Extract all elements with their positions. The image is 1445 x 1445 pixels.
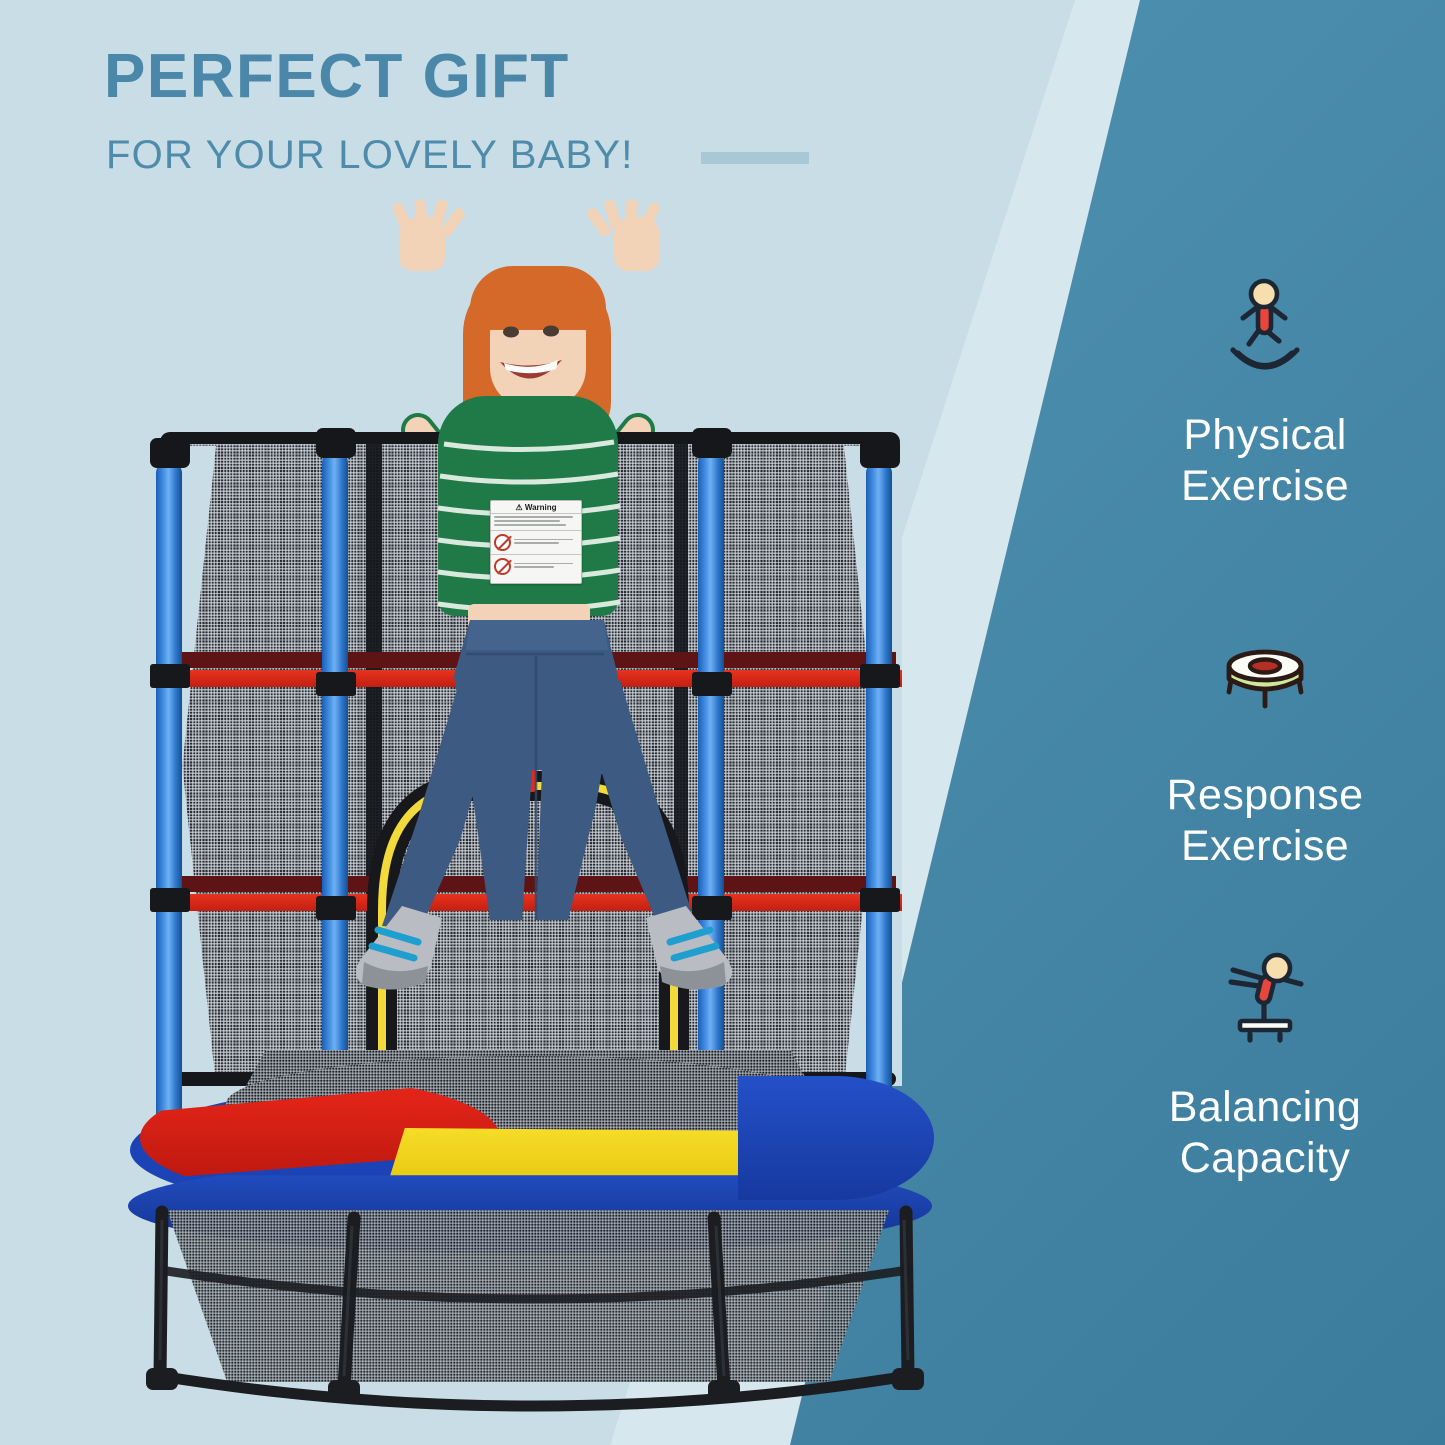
headline-title: PERFECT GIFT	[104, 46, 570, 108]
feature-label-line2: Capacity	[1100, 1133, 1430, 1184]
bouncing-figure-icon	[1100, 272, 1430, 384]
warning-triangle-icon: ⚠	[515, 503, 522, 512]
warning-label-body	[491, 514, 581, 530]
warning-label-row-1	[491, 530, 581, 554]
headline-subtitle: FOR YOUR LOVELY BABY!	[106, 135, 634, 175]
band-clip-4b	[860, 888, 900, 912]
child-shoes	[324, 900, 764, 1020]
support-pole-1	[156, 462, 182, 1162]
feature-item-response-exercise: Response Exercise	[1100, 632, 1430, 871]
band-clip-1a	[150, 664, 190, 688]
product-marketing-image: PERFECT GIFT FOR YOUR LOVELY BABY! Physi…	[0, 0, 1445, 1445]
feature-label: Balancing Capacity	[1100, 1082, 1430, 1183]
pole-cap-1	[150, 438, 190, 468]
warning-label-title: ⚠ Warning	[491, 501, 581, 514]
prohibition-icon	[494, 558, 511, 575]
band-clip-1b	[150, 888, 190, 912]
trampoline-legs	[138, 1200, 928, 1420]
feature-label-line1: Physical	[1100, 410, 1430, 461]
headline-rule	[701, 152, 809, 164]
feature-label-line1: Balancing	[1100, 1082, 1430, 1133]
product-image-trampoline: ⚠ Warning	[118, 200, 938, 1420]
prohibition-icon	[494, 534, 511, 551]
warning-label-text: Warning	[525, 503, 557, 512]
pole-cap-4	[860, 438, 900, 468]
balance-beam-figure-icon	[1100, 944, 1430, 1056]
feature-label-line1: Response	[1100, 770, 1430, 821]
warning-label-row-2	[491, 554, 581, 578]
warning-label: ⚠ Warning	[490, 500, 582, 584]
feature-item-balancing-capacity: Balancing Capacity	[1100, 944, 1430, 1183]
feature-label: Physical Exercise	[1100, 410, 1430, 511]
feature-label-line2: Exercise	[1100, 461, 1430, 512]
frame-pad-right-wrap	[738, 1076, 934, 1200]
feature-label: Response Exercise	[1100, 770, 1430, 871]
feature-label-line2: Exercise	[1100, 821, 1430, 872]
feature-item-physical-exercise: Physical Exercise	[1100, 272, 1430, 511]
band-clip-4a	[860, 664, 900, 688]
pole-cap-3	[692, 428, 732, 458]
trampoline-top-icon	[1100, 632, 1430, 744]
pole-cap-2	[316, 428, 356, 458]
support-pole-4	[866, 462, 892, 1162]
